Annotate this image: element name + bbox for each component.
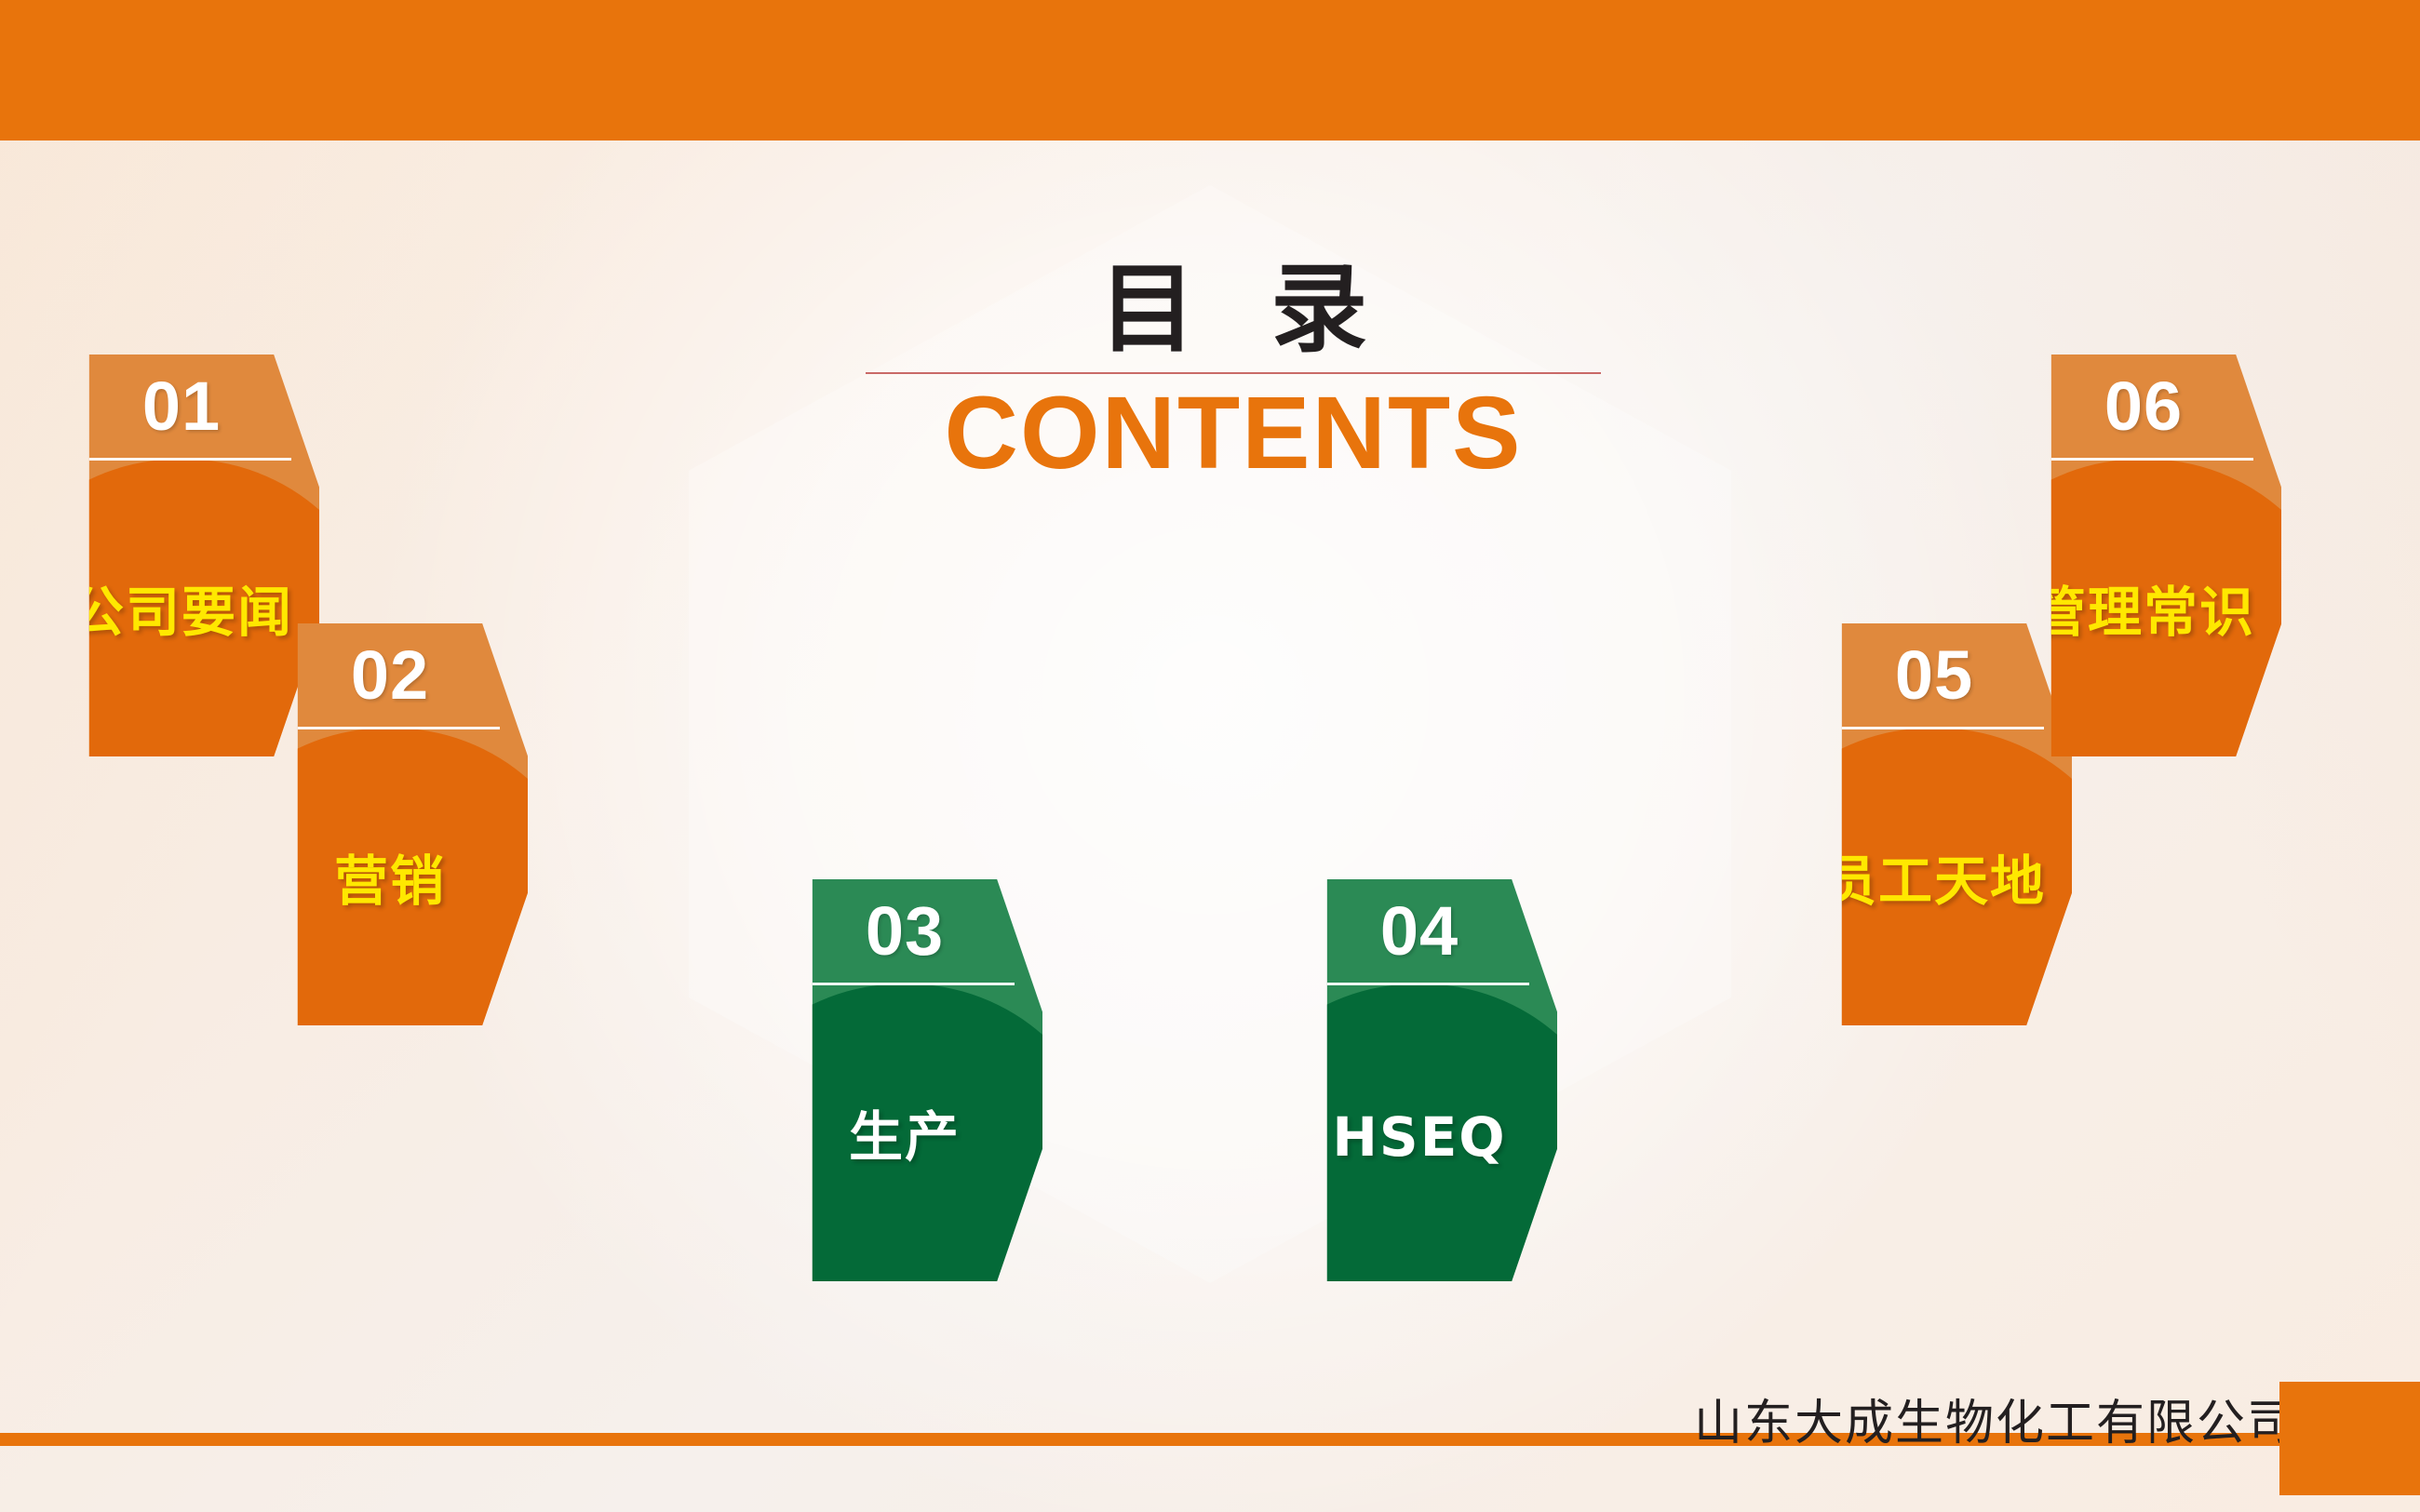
footer-orange-block <box>2279 1382 2420 1495</box>
page-title: 目 录 CONTENTS <box>866 261 1601 488</box>
title-english: CONTENTS <box>866 380 1601 488</box>
hexagon-divider-rule <box>2034 458 2254 461</box>
title-divider-rule <box>866 372 1601 374</box>
hexagon-divider-rule <box>1824 727 2045 729</box>
top-orange-band <box>0 0 2420 140</box>
footer-company-name: 山东大成生物化工有限公司 <box>1694 1384 2297 1453</box>
hexagon-divider-rule <box>280 727 501 729</box>
slide-canvas: 目 录 CONTENTS 01 公司要闻 02 营销 03 生产 04 HSEQ <box>0 0 2420 1512</box>
title-chinese: 目 录 <box>866 261 1601 357</box>
hexagon-divider-rule <box>1310 983 1530 985</box>
hexagon-divider-rule <box>795 983 1015 985</box>
hexagon-divider-rule <box>72 458 292 461</box>
